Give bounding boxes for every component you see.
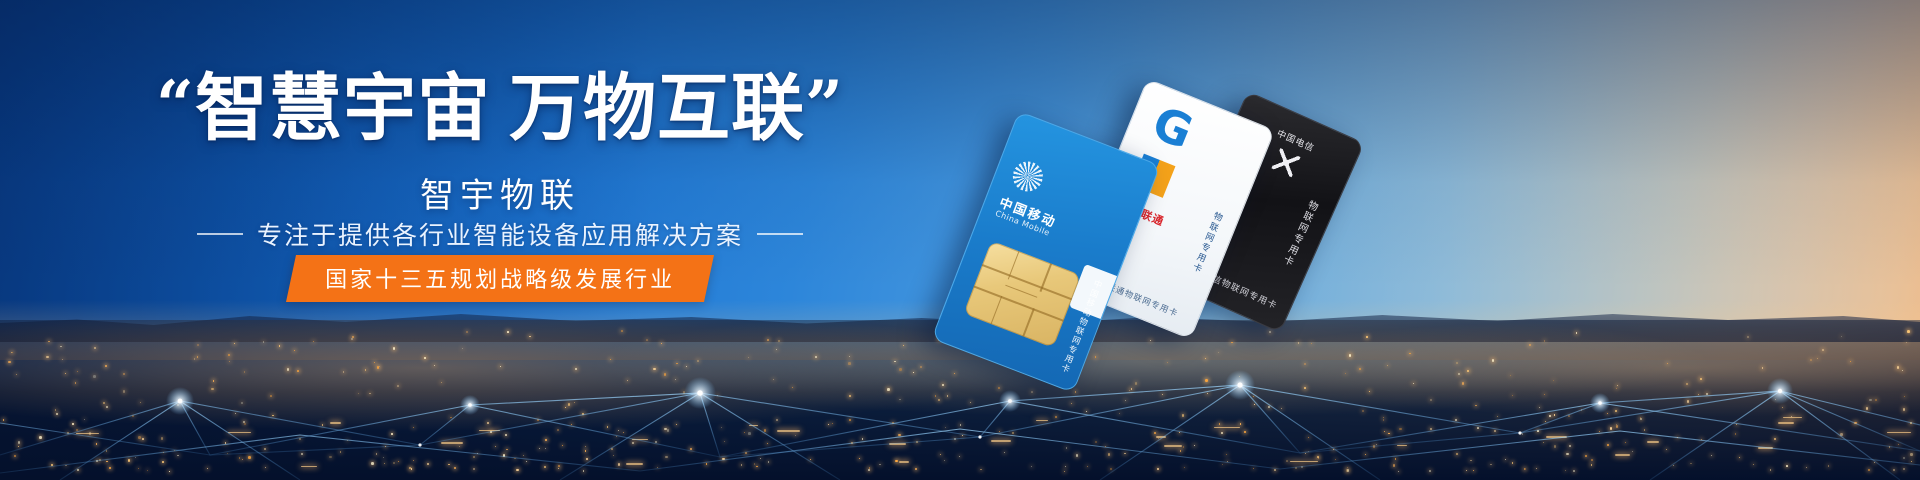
sim-card-mobile: 中国移动 China Mobile 中国移动物联网专用卡 bbox=[931, 111, 1160, 393]
badge-container: 国家十三五规划战略级发展行业 bbox=[0, 255, 1000, 302]
close-quote: ” bbox=[805, 66, 844, 144]
brand-subtitle: 智宇物联 bbox=[0, 168, 1000, 217]
tagline-rule-left bbox=[197, 233, 243, 235]
unicom-g-glyph: G bbox=[1147, 99, 1199, 156]
status-badge: 国家十三五规划战略级发展行业 bbox=[286, 255, 714, 302]
telecom-logo-icon bbox=[1271, 148, 1300, 177]
china-mobile-logo-icon bbox=[1008, 157, 1047, 196]
tagline: 专注于提供各行业智能设备应用解决方案 bbox=[0, 216, 1000, 252]
headline-part-1: 智慧宇宙 bbox=[195, 66, 491, 151]
sim-chip-icon bbox=[963, 241, 1081, 348]
sim-card-group: 中国电信 物联网专用卡 中国电信物联网专用卡 G 中国联通 物联网专用卡 中国联… bbox=[900, 90, 1460, 390]
badge-label: 国家十三五规划战略级发展行业 bbox=[325, 262, 675, 294]
page-title: “智慧宇宙万物互联” bbox=[0, 72, 1000, 145]
banner-copy: “智慧宇宙万物互联” 智宇物联 专注于提供各行业智能设备应用解决方案 国家十三五… bbox=[0, 0, 1000, 480]
hero-banner: “智慧宇宙万物互联” 智宇物联 专注于提供各行业智能设备应用解决方案 国家十三五… bbox=[0, 0, 1920, 480]
tagline-rule-right bbox=[757, 233, 803, 235]
tagline-text: 专注于提供各行业智能设备应用解决方案 bbox=[257, 216, 743, 252]
unicom-vertical-text: 物联网专用卡 bbox=[1188, 210, 1225, 276]
headline-part-2: 万物互联 bbox=[509, 66, 805, 151]
open-quote: “ bbox=[156, 66, 195, 144]
